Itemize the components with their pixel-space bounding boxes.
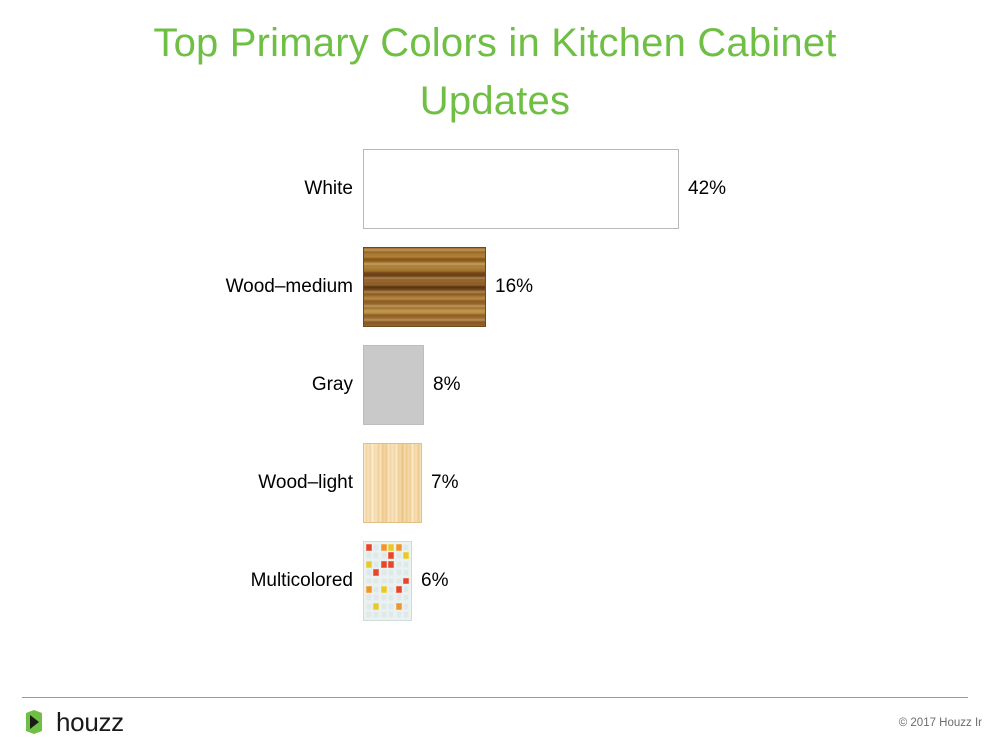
mosaic-tile [388,578,394,585]
wood-medium-texture [363,247,486,327]
mosaic-tile [373,561,379,568]
mosaic-tile [388,611,394,618]
bar-value-label: 16% [495,276,533,298]
mosaic-tile [381,578,387,585]
mosaic-tile [373,578,379,585]
mosaic-tile [388,569,394,576]
houzz-brand-logo[interactable]: houzz [25,709,124,735]
mosaic-tile [403,578,409,585]
mosaic-tile [396,611,402,618]
mosaic-tile-texture [363,541,412,621]
gray-swatch [363,345,424,425]
mosaic-tile [381,561,387,568]
mosaic-tile [388,603,394,610]
mosaic-tile [403,594,409,601]
bar-and-value: 6% [363,541,448,621]
mosaic-tile [381,594,387,601]
mosaic-tile [366,578,372,585]
mosaic-tile [366,586,372,593]
mosaic-tile [381,544,387,551]
mosaic-tile [396,552,402,559]
bar-and-value: 7% [363,443,458,523]
mosaic-tile [366,569,372,576]
mosaic-tile [396,578,402,585]
mosaic-tile [373,552,379,559]
mosaic-tile [403,544,409,551]
bar-value-label: 6% [421,570,448,592]
houzz-logo-icon [25,709,51,735]
mosaic-tile [403,561,409,568]
mosaic-tile [396,603,402,610]
bar-row: White42% [0,140,990,238]
category-label: White [0,178,363,200]
mosaic-tile [366,603,372,610]
mosaic-tile [381,552,387,559]
mosaic-tile [381,569,387,576]
mosaic-tile [388,586,394,593]
mosaic-tile [366,561,372,568]
mosaic-tile [396,544,402,551]
bar-value-label: 8% [433,374,460,396]
houzz-wordmark: houzz [56,709,124,735]
wood-light-texture [363,443,422,523]
category-label: Wood–medium [0,276,363,298]
mosaic-tile [388,552,394,559]
mosaic-tile [403,569,409,576]
mosaic-tile [396,569,402,576]
mosaic-tile [366,544,372,551]
mosaic-tile [388,594,394,601]
mosaic-tile [373,586,379,593]
mosaic-tile [381,603,387,610]
bar-value-label: 42% [688,178,726,200]
bar-row: Multicolored6% [0,532,990,630]
mosaic-tile [403,586,409,593]
category-label: Multicolored [0,570,363,592]
mosaic-tile [381,611,387,618]
page-title: Top Primary Colors in Kitchen Cabinet Up… [95,14,895,130]
mosaic-tile [373,611,379,618]
footer: houzz © 2017 Houzz Ir [0,703,990,740]
bar-chart: White42%Wood–medium16%Gray8%Wood–light7%… [0,140,990,650]
mosaic-tile [403,611,409,618]
category-label: Gray [0,374,363,396]
mosaic-tile [373,544,379,551]
bar-row: Wood–medium16% [0,238,990,336]
bar-row: Gray8% [0,336,990,434]
mosaic-tile [388,544,394,551]
bar-and-value: 42% [363,149,726,229]
white-swatch [363,149,679,229]
bar-and-value: 16% [363,247,533,327]
bar-value-label: 7% [431,472,458,494]
mosaic-tile [403,603,409,610]
mosaic-tile-grid [366,544,409,618]
bar-row: Wood–light7% [0,434,990,532]
category-label: Wood–light [0,472,363,494]
page-title-line-1: Top Primary Colors in Kitchen Cabinet [95,14,895,72]
mosaic-tile [388,561,394,568]
mosaic-tile [366,594,372,601]
mosaic-tile [373,603,379,610]
bar-and-value: 8% [363,345,460,425]
mosaic-tile [381,586,387,593]
mosaic-tile [373,569,379,576]
page-title-line-2: Updates [95,72,895,130]
mosaic-tile [366,552,372,559]
mosaic-tile [366,611,372,618]
mosaic-tile [396,561,402,568]
mosaic-tile [403,552,409,559]
mosaic-tile [373,594,379,601]
copyright-text: © 2017 Houzz Ir [899,717,982,729]
footer-divider [22,697,968,698]
mosaic-tile [396,586,402,593]
mosaic-tile [396,594,402,601]
